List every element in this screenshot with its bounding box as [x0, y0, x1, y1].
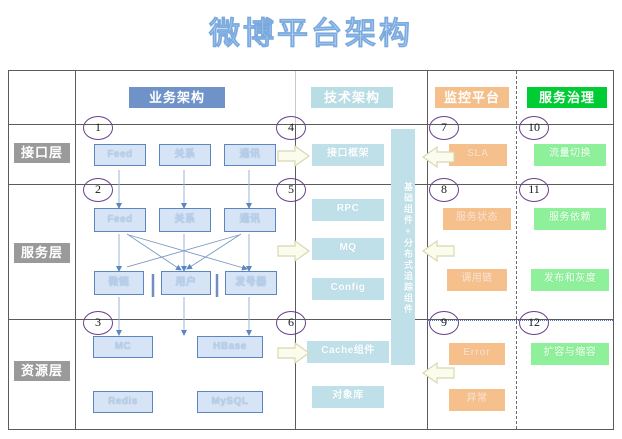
arrow-business-to-technical-1: [277, 144, 311, 168]
column-header-monitoring: 监控平台: [435, 87, 509, 108]
node-monitoring-error[interactable]: Error: [449, 343, 505, 365]
node-resource-mc[interactable]: MC: [93, 336, 153, 358]
row-label-resource: 资源层: [14, 361, 70, 381]
badge-10[interactable]: 10: [519, 116, 549, 140]
badge-1[interactable]: 1: [83, 116, 113, 140]
arrow-monitoring-to-technical-2: [421, 239, 455, 263]
badge-7[interactable]: 7: [429, 116, 459, 140]
arrow-business-to-technical-2: [277, 239, 311, 263]
node-service-user[interactable]: 用户: [161, 271, 211, 295]
node-service-relation[interactable]: 关系: [159, 208, 211, 232]
node-technical-base-components-bar[interactable]: 基础组件+分布式追踪组件: [391, 129, 415, 365]
row-label-interface: 接口层: [14, 143, 70, 163]
badge-2[interactable]: 2: [83, 178, 113, 202]
node-governance-traffic-switch[interactable]: 流量切换: [534, 144, 606, 166]
arrow-business-to-technical-3: [277, 341, 311, 365]
node-service-messaging[interactable]: 通讯: [224, 208, 276, 232]
node-monitoring-service-status[interactable]: 服务状态: [443, 208, 511, 230]
badge-9[interactable]: 9: [429, 311, 459, 335]
node-resource-mysql[interactable]: MySQL: [197, 391, 263, 413]
node-governance-service-dependency[interactable]: 服务依赖: [534, 208, 606, 230]
row-label-service: 服务层: [14, 243, 70, 263]
node-governance-scaling[interactable]: 扩容与缩容: [531, 343, 609, 365]
diagram-grid: 业务架构 技术架构 监控平台 服务治理 接口层 服务层 资源层 1 2 3 4 …: [8, 70, 614, 430]
node-governance-release-gray[interactable]: 发布和灰度: [531, 269, 609, 291]
node-technical-object-store[interactable]: 对象库: [312, 386, 384, 408]
node-monitoring-exception[interactable]: 异常: [449, 389, 505, 411]
node-monitoring-call-chain[interactable]: 调用链: [447, 269, 507, 291]
node-business-relation[interactable]: 关系: [159, 144, 211, 166]
column-header-governance: 服务治理: [527, 87, 607, 108]
page-title: 微博平台架构: [0, 8, 622, 53]
node-service-feed[interactable]: Feed: [94, 208, 146, 232]
node-technical-interface-framework[interactable]: 接口框架: [312, 144, 384, 166]
arrow-monitoring-to-technical-3: [421, 361, 455, 385]
badge-3[interactable]: 3: [83, 311, 113, 335]
node-business-messaging[interactable]: 通讯: [224, 144, 276, 166]
node-technical-cache-component[interactable]: Cache组件: [307, 341, 389, 363]
badge-8[interactable]: 8: [429, 178, 459, 202]
badge-5[interactable]: 5: [276, 178, 306, 202]
grid-vline-2: [295, 124, 296, 429]
column-header-technical: 技术架构: [311, 87, 393, 108]
node-service-id-generator[interactable]: 发号器: [225, 271, 277, 295]
badge-4[interactable]: 4: [276, 116, 306, 140]
badge-12[interactable]: 12: [519, 311, 549, 335]
node-resource-redis[interactable]: Redis: [93, 391, 153, 413]
arrow-monitoring-to-technical-1: [421, 145, 455, 169]
column-header-business: 业务架构: [129, 87, 225, 108]
badge-6[interactable]: 6: [276, 311, 306, 335]
node-technical-mq[interactable]: MQ: [312, 238, 384, 260]
node-technical-rpc[interactable]: RPC: [312, 199, 384, 221]
node-monitoring-sla[interactable]: SLA: [449, 144, 507, 166]
node-resource-hbase[interactable]: HBase: [197, 336, 263, 358]
node-service-weilian[interactable]: 微链: [94, 271, 144, 295]
node-technical-config[interactable]: Config: [312, 278, 384, 300]
badge-11[interactable]: 11: [519, 178, 549, 202]
node-business-feed[interactable]: Feed: [94, 144, 146, 166]
architecture-diagram: 微博平台架构: [0, 0, 622, 439]
